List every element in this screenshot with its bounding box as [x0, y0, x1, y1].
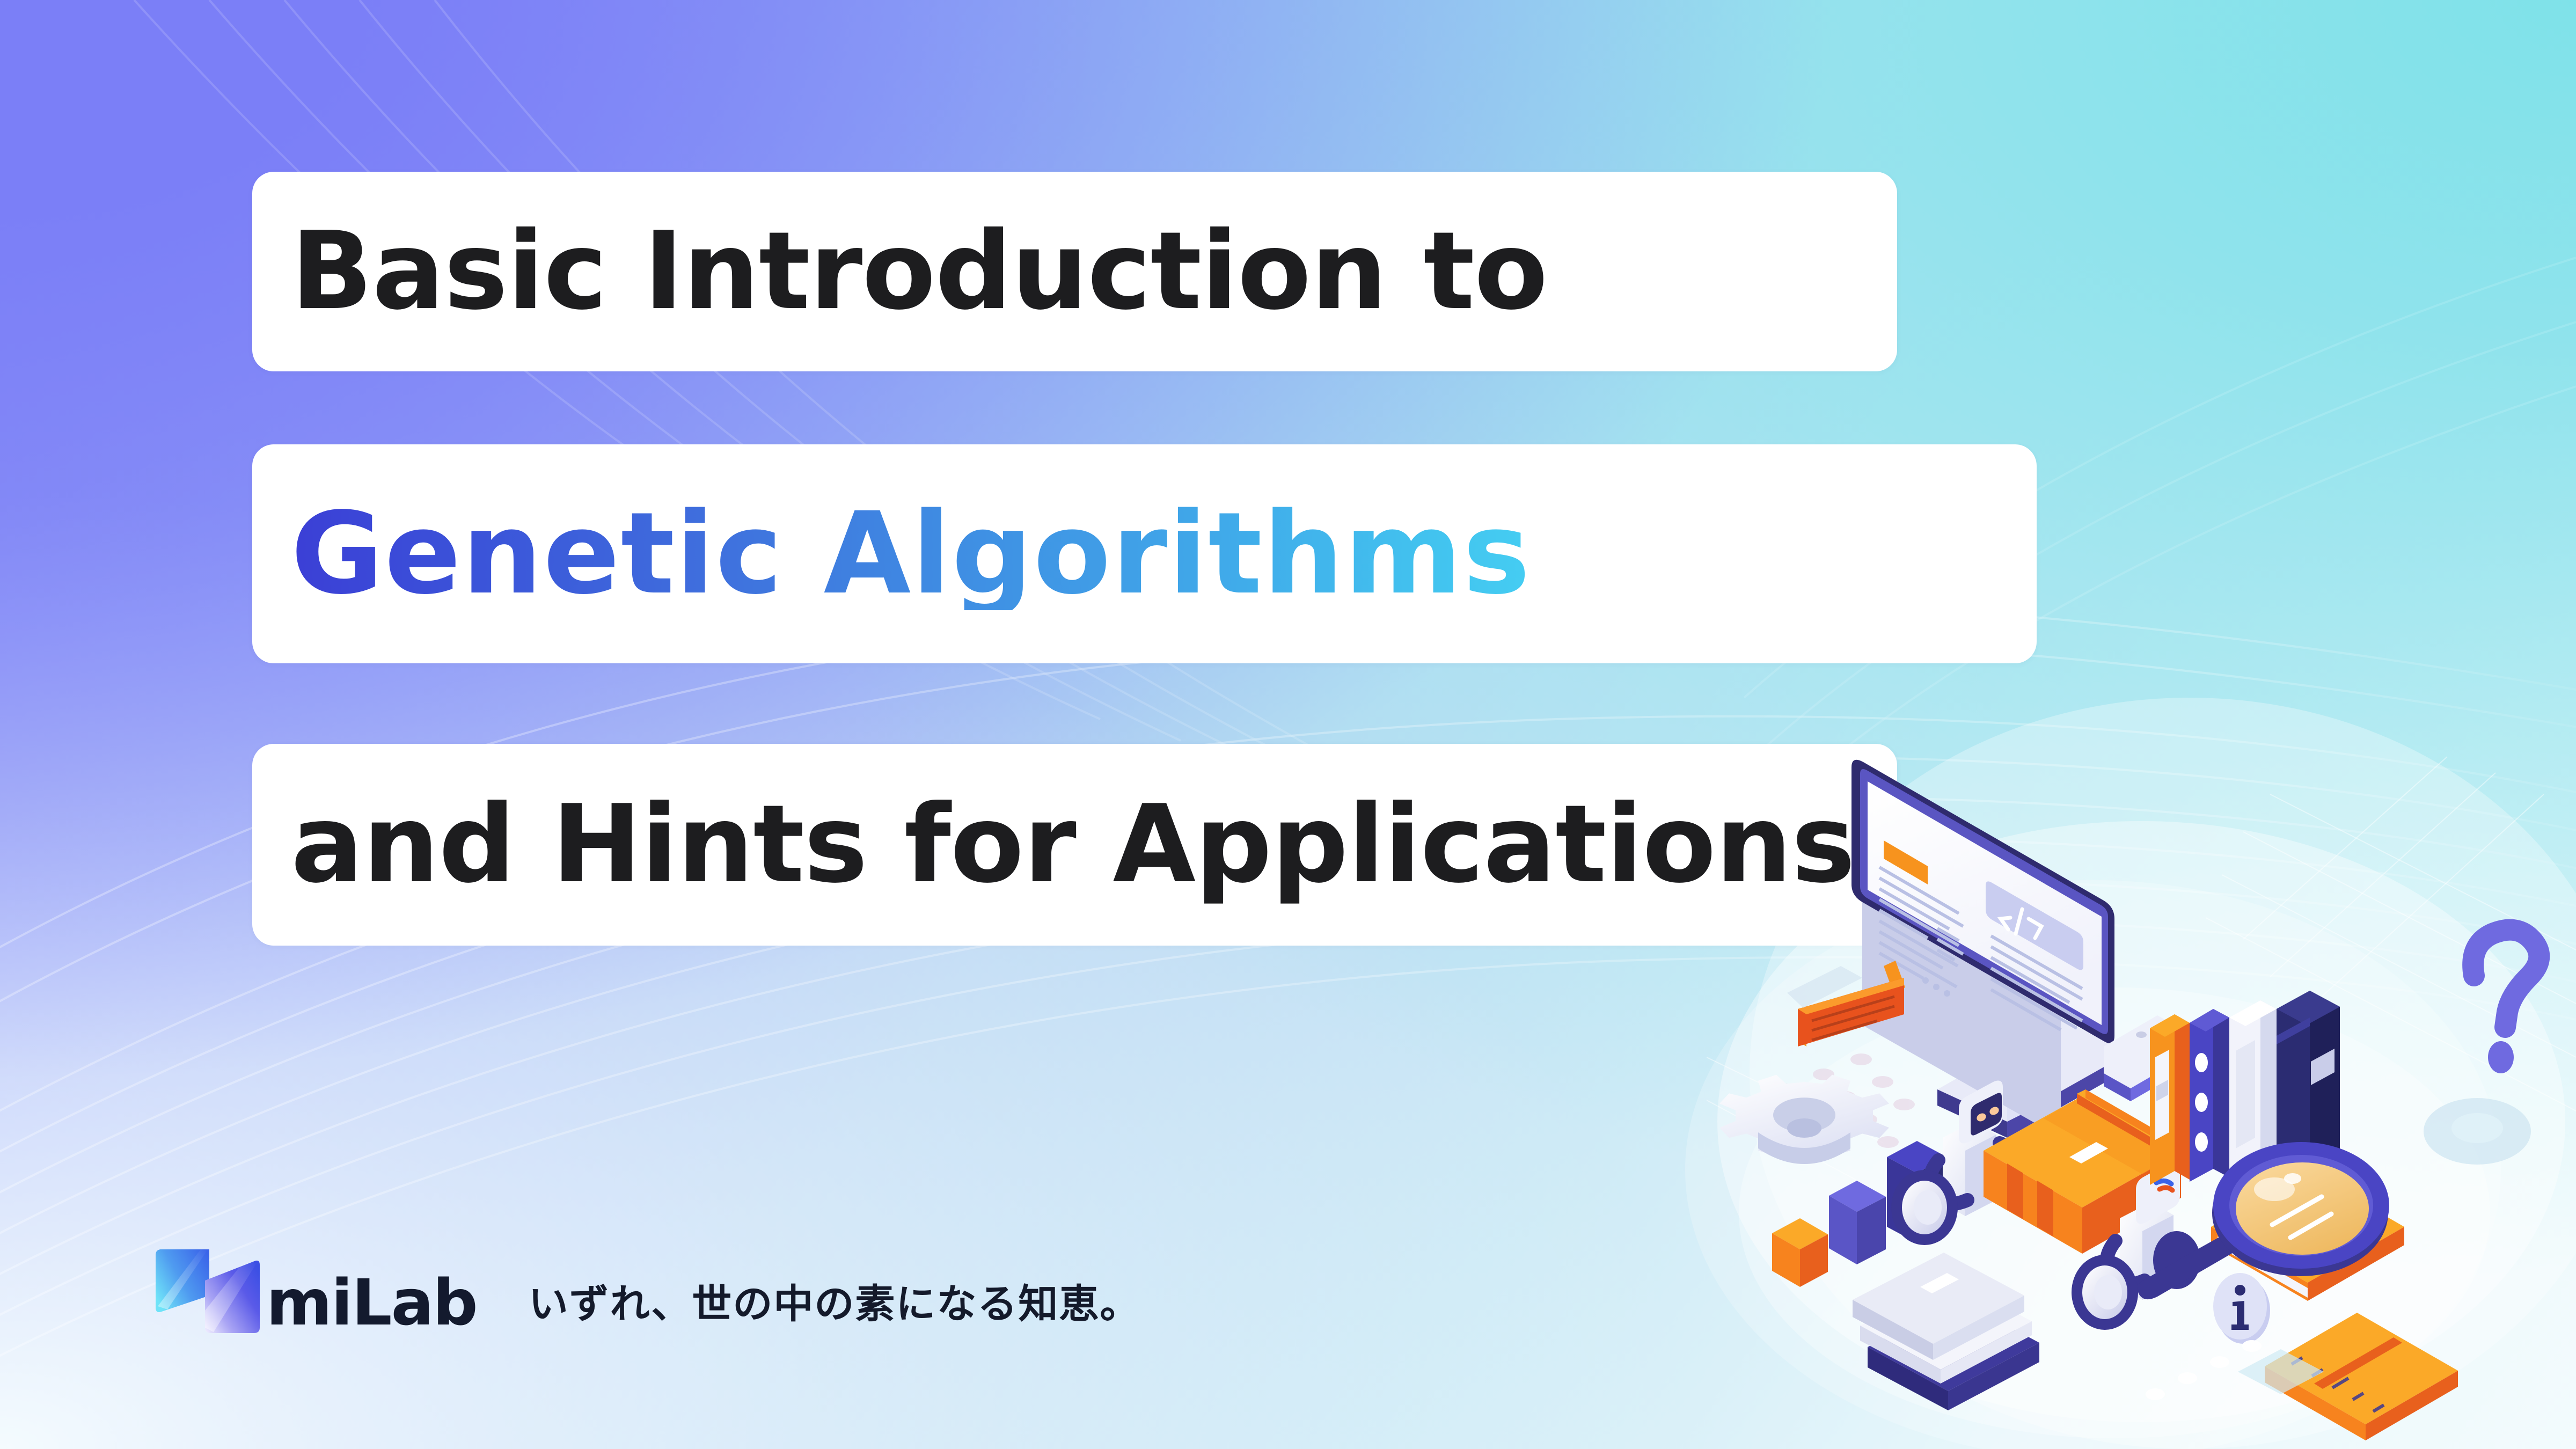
page-title-line-1: Basic Introduction to — [291, 218, 1547, 325]
brand-tagline: いずれ、世の中の素になる知恵。 — [529, 1272, 1141, 1329]
title-card-line-3: and Hints for Applications — [252, 744, 1897, 946]
footer-brand-bar: miLab いずれ、世の中の素になる知恵。 — [151, 1244, 1140, 1346]
title-card-line-2: Genetic Algorithms — [252, 444, 2037, 663]
page-title-line-2-highlight: Genetic Algorithms — [291, 497, 1531, 610]
torus-shape — [2424, 1098, 2531, 1165]
page-title-line-3: and Hints for Applications — [291, 791, 1855, 898]
isometric-learning-illustration — [1707, 714, 2576, 1449]
title-card-line-1: Basic Introduction to — [252, 172, 1897, 371]
milab-logo[interactable]: miLab — [151, 1246, 477, 1344]
milab-wordmark: miLab — [266, 1271, 477, 1334]
banner-canvas: Basic Introduction to Genetic Algorithms… — [0, 0, 2576, 1449]
milab-m-mark-icon — [151, 1246, 264, 1344]
